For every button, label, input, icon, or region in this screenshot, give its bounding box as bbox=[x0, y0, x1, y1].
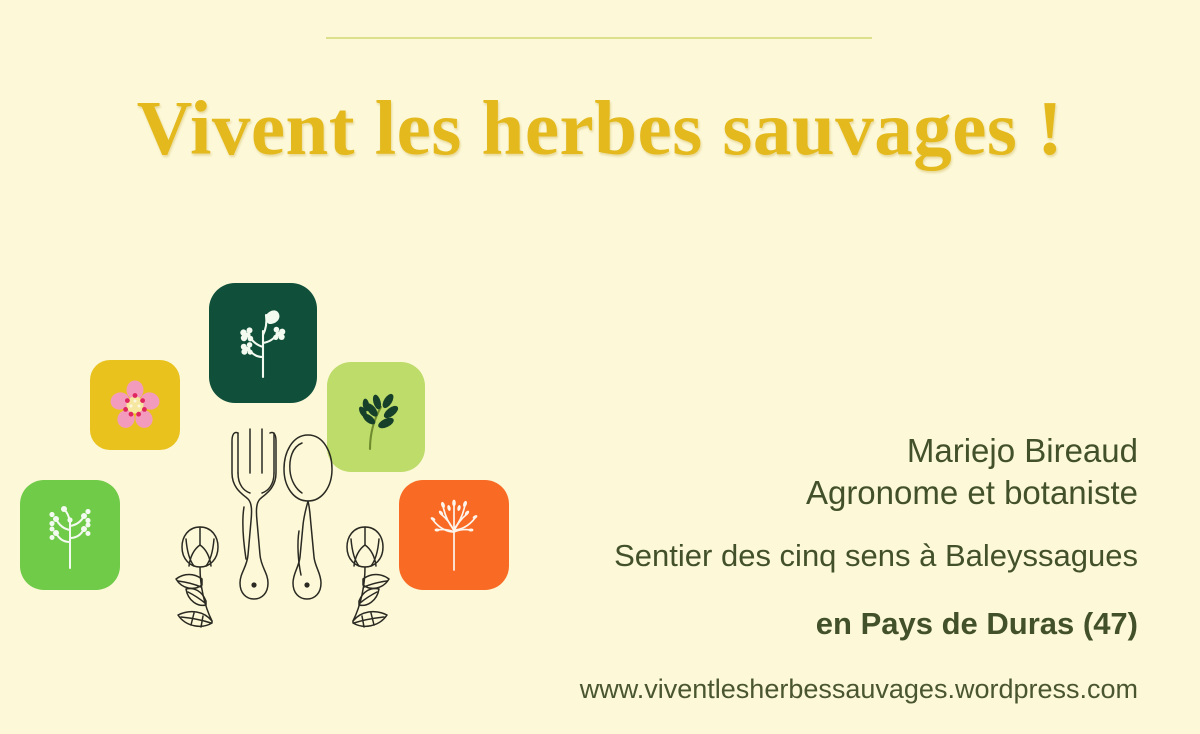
presenter-info-block: Mariejo Bireaud Agronome et botaniste Se… bbox=[518, 430, 1138, 706]
tile-orange bbox=[399, 480, 509, 590]
fork-spoon-flowers-illustration bbox=[160, 415, 405, 665]
presenter-name: Mariejo Bireaud bbox=[518, 430, 1138, 472]
poster-slide: Vivent les herbes sauvages ! bbox=[0, 0, 1200, 734]
trail-name: Sentier des cinq sens à Baleyssagues bbox=[518, 536, 1138, 576]
website-url: www.viventlesherbessauvages.wordpress.co… bbox=[518, 672, 1138, 707]
tile-dark-green bbox=[209, 283, 317, 403]
pink-flower-icon bbox=[109, 379, 161, 431]
region-name: en Pays de Duras (47) bbox=[518, 604, 1138, 644]
wild-grass-icon bbox=[425, 498, 483, 572]
budded-sprig-icon bbox=[43, 500, 97, 570]
tile-green bbox=[20, 480, 120, 590]
top-divider bbox=[326, 37, 872, 39]
presenter-role: Agronome et botaniste bbox=[518, 472, 1138, 514]
flowering-sprig-icon bbox=[235, 305, 291, 381]
page-title: Vivent les herbes sauvages ! bbox=[0, 88, 1200, 169]
